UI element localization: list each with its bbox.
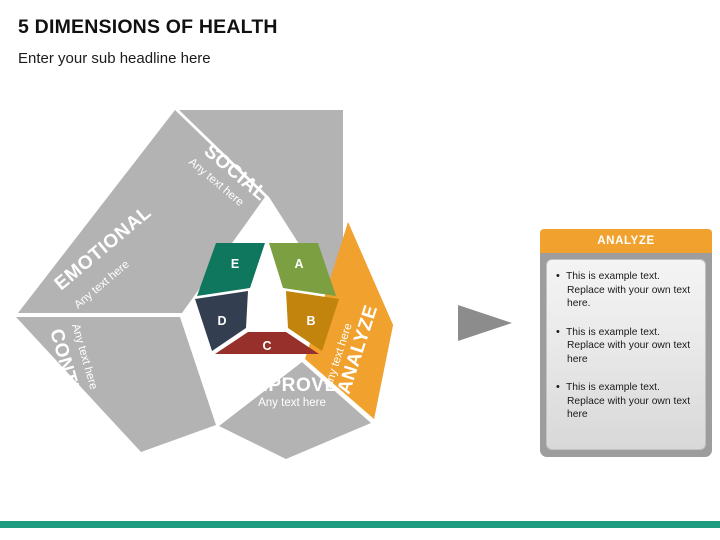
- list-item-text: This is example text. Replace with your …: [567, 326, 696, 367]
- callout-arrow-icon: [458, 305, 512, 341]
- outer-segment-improve-sub: Any text here: [258, 397, 326, 409]
- pentagon-diagram: EMOTIONAL Any text here SOCIAL Any text …: [0, 85, 540, 485]
- callout-body: • This is example text. Replace with you…: [540, 253, 712, 457]
- page-subtitle: Enter your sub headline here: [18, 50, 211, 67]
- page-title: 5 DIMENSIONS OF HEALTH: [18, 16, 278, 39]
- list-item-text: This is example text. Replace with your …: [567, 270, 696, 311]
- list-item-text: This is example text. Replace with your …: [567, 381, 696, 422]
- inner-segment-a-letter: A: [294, 257, 303, 271]
- inner-segment-d-letter: D: [217, 314, 226, 328]
- pentagon-diagram-svg: EMOTIONAL Any text here SOCIAL Any text …: [0, 85, 540, 485]
- analyze-callout-panel: ANALYZE • This is example text. Replace …: [540, 229, 712, 457]
- list-item[interactable]: • This is example text. Replace with you…: [556, 381, 696, 422]
- list-item[interactable]: • This is example text. Replace with you…: [556, 270, 696, 311]
- callout-header-title: ANALYZE: [540, 229, 712, 253]
- inner-segment-c-letter: C: [262, 339, 271, 353]
- callout-bullet-list: • This is example text. Replace with you…: [546, 259, 706, 450]
- footer-accent-bar: [0, 521, 720, 528]
- inner-segment-b-letter: B: [306, 314, 315, 328]
- list-item[interactable]: • This is example text. Replace with you…: [556, 326, 696, 367]
- outer-segment-control[interactable]: CONTROL Any text here: [16, 317, 216, 452]
- outer-segment-control-shape[interactable]: [16, 317, 216, 452]
- inner-segment-e-letter: E: [231, 257, 239, 271]
